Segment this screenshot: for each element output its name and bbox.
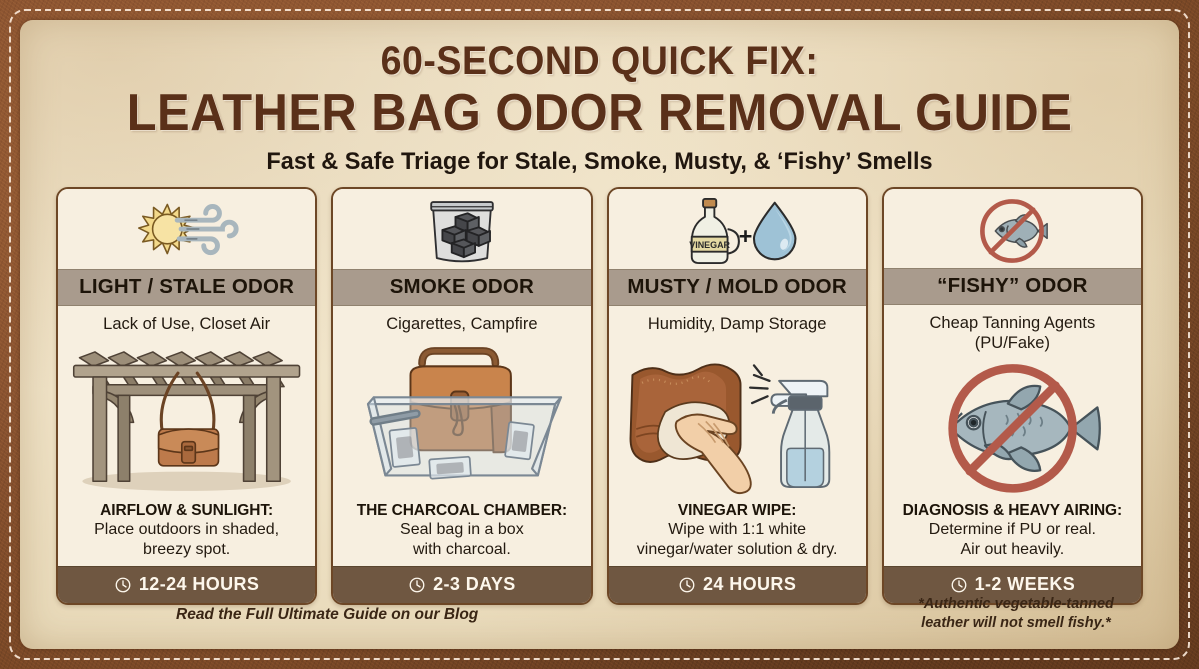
blog-cta-link[interactable]: Read the Full Ultimate Guide on our Blog [176,606,478,624]
card-time-label: 12-24 HOURS [139,574,259,595]
card-time-label: 2-3 DAYS [433,574,516,595]
card-cause-text: Cheap Tanning Agents (PU/Fake) [884,305,1141,354]
fix-body-line-2: Air out heavily. [891,540,1134,560]
fix-title: THE CHARCOAL CHAMBER: [340,501,583,520]
card-cause-line-2: (PU/Fake) [890,333,1135,353]
clock-icon [950,576,968,594]
card-smoke-odor[interactable]: SMOKE ODOR Cigarettes, Campfire [331,187,592,605]
fix-title: DIAGNOSIS & HEAVY AIRING: [891,501,1134,520]
no-fish-icon [884,189,1141,268]
poster-header: 60-SECOND QUICK FIX: LEATHER BAG ODOR RE… [20,38,1179,179]
fix-title: AIRFLOW & SUNLIGHT: [65,501,308,520]
card-fix-block: DIAGNOSIS & HEAVY AIRING: Determine if P… [884,501,1141,566]
card-header-label: LIGHT / STALE ODOR [58,269,315,306]
card-cause-text: Cigarettes, Campfire [333,306,590,336]
disclaimer-line-1: *Authentic vegetable-tanned [891,595,1141,614]
card-header-label: SMOKE ODOR [333,269,590,306]
vinegar-plus-water-icon: VINEGAR + [609,189,866,269]
card-cause-line-1: Cheap Tanning Agents [890,313,1135,333]
fix-body-line-2: vinegar/water solution & dry. [616,540,859,560]
backpack-in-plastic-box-illustration [333,336,590,501]
fix-title: VINEGAR WIPE: [616,501,859,520]
title-line-1: 60-SECOND QUICK FIX: [55,38,1144,84]
infographic-poster: 60-SECOND QUICK FIX: LEATHER BAG ODOR RE… [0,0,1199,669]
fix-body-line-2: with charcoal. [340,540,583,560]
poster-subtitle: Fast & Safe Triage for Stale, Smoke, Mus… [43,145,1156,179]
clock-icon [114,576,132,594]
poster-footer: Read the Full Ultimate Guide on our Blog… [56,593,1143,643]
sun-wind-icon [58,189,315,269]
clock-icon [408,576,426,594]
vinegar-bottle-label: VINEGAR [689,240,730,250]
card-light-stale-odor[interactable]: LIGHT / STALE ODOR Lack of Use, Closet A… [56,187,317,605]
card-fix-block: VINEGAR WIPE: Wipe with 1:1 white vinega… [609,501,866,566]
disclaimer-note: *Authentic vegetable-tanned leather will… [891,595,1141,633]
pergola-hanging-bag-illustration [58,336,315,501]
card-time-label: 24 HOURS [703,574,796,595]
card-cause-text: Humidity, Damp Storage [609,306,866,336]
no-fish-prohibition-illustration [884,354,1141,501]
fix-body-line-1: Wipe with 1:1 white [616,520,859,540]
odor-cards-row: LIGHT / STALE ODOR Lack of Use, Closet A… [56,187,1143,605]
parchment-panel: 60-SECOND QUICK FIX: LEATHER BAG ODOR RE… [20,20,1179,649]
fix-body-line-1: Seal bag in a box [340,520,583,540]
card-header-label: MUSTY / MOLD ODOR [609,269,866,306]
card-time-label: 1-2 WEEKS [975,574,1076,595]
card-fishy-odor[interactable]: “FISHY” ODOR Cheap Tanning Agents (PU/Fa… [882,187,1143,605]
card-fix-block: THE CHARCOAL CHAMBER: Seal bag in a box … [333,501,590,566]
disclaimer-line-2: leather will not smell fishy.* [891,614,1141,633]
fix-body-line-1: Determine if PU or real. [891,520,1134,540]
charcoal-bag-icon [333,189,590,269]
title-line-2: LEATHER BAG ODOR REMOVAL GUIDE [55,84,1144,142]
fix-body-line-1: Place outdoors in shaded, [65,520,308,540]
plus-sign: + [739,223,753,249]
card-cause-text: Lack of Use, Closet Air [58,306,315,336]
card-fix-block: AIRFLOW & SUNLIGHT: Place outdoors in sh… [58,501,315,566]
card-header-label: “FISHY” ODOR [884,268,1141,305]
hand-wiping-leather-with-spray-bottle-illustration [609,336,866,501]
clock-icon [678,576,696,594]
card-musty-mold-odor[interactable]: VINEGAR + MUSTY / MOLD ODOR Humidity, Da… [607,187,868,605]
fix-body-line-2: breezy spot. [65,540,308,560]
